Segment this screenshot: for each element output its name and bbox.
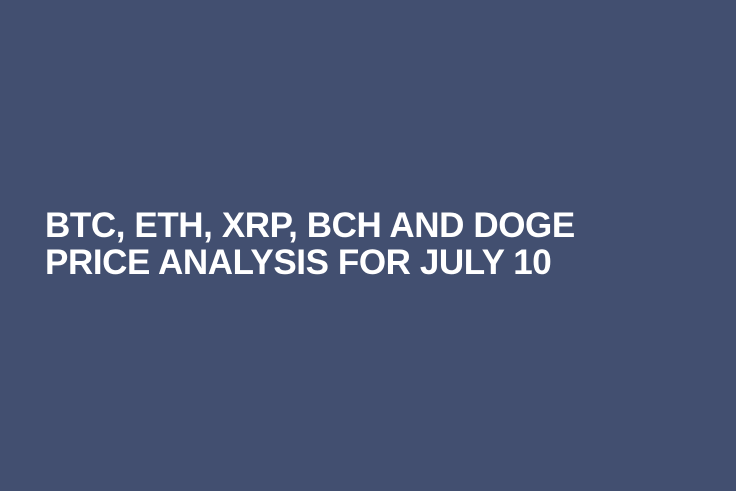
article-cover-card: BTC, ETH, XRP, BCH AND DOGE PRICE ANALYS… [0, 0, 736, 491]
page-title: BTC, ETH, XRP, BCH AND DOGE PRICE ANALYS… [0, 207, 615, 281]
headline-line-1: BTC, ETH, XRP, BCH AND DOGE [45, 207, 575, 244]
headline-line-2: PRICE ANALYSIS FOR JULY 10 [45, 244, 575, 281]
